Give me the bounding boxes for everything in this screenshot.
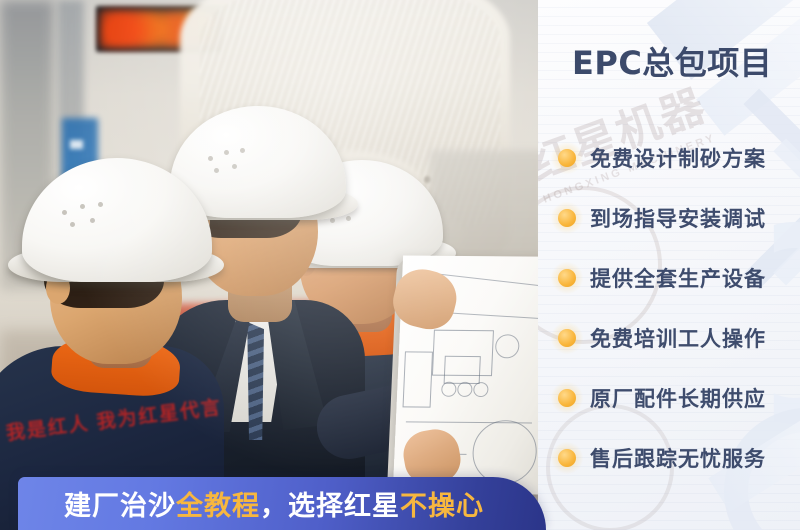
feature-list: 免费设计制砂方案 到场指导安装调试 提供全套生产设备 免费培训工人操作 原厂配件…	[556, 128, 800, 488]
dot-bullet-icon	[556, 387, 578, 409]
feature-item: 到场指导安装调试	[556, 188, 800, 248]
helmet-vent	[330, 218, 335, 223]
bottom-slogan-banner: 建厂治沙全教程，选择红星不操心	[18, 477, 546, 530]
blueprint-machine-part	[444, 356, 481, 384]
helmet-vent	[62, 210, 67, 215]
helmet-vent	[208, 156, 213, 161]
helmet-vent	[70, 222, 75, 227]
promo-banner-image: 我是红人 我为红星代言	[0, 0, 800, 530]
helmet-vent	[90, 218, 95, 223]
banner-slogan: 建厂治沙全教程，选择红星不操心	[64, 484, 484, 523]
helmet-vent	[224, 150, 229, 155]
dot-bullet-icon	[556, 147, 578, 169]
feature-label: 原厂配件长期供应	[590, 383, 766, 413]
features-panel: 红星机器 HONGXING MACHINERY EPC总包项目 免费设计制砂方案…	[538, 0, 800, 530]
helmet-vent	[240, 148, 245, 153]
feature-label: 售后跟踪无忧服务	[590, 443, 766, 473]
banner-part-highlight: 全教程	[176, 491, 260, 522]
panel-title: EPC总包项目	[572, 38, 800, 84]
dot-bullet-icon	[556, 267, 578, 289]
dot-bullet-icon	[556, 327, 578, 349]
blueprint-stamp	[471, 420, 538, 484]
dot-bullet-icon	[556, 447, 578, 469]
blueprint-wheel	[473, 382, 489, 397]
feature-item: 免费设计制砂方案	[556, 128, 800, 188]
banner-part-highlight: 不操心	[400, 491, 484, 522]
helmet-vent	[346, 216, 351, 221]
blueprint-wheel	[441, 382, 457, 397]
feature-item: 提供全套生产设备	[556, 248, 800, 308]
feature-label: 提供全套生产设备	[590, 263, 766, 293]
helmet-vent	[98, 202, 103, 207]
feature-item: 原厂配件长期供应	[556, 368, 800, 428]
feature-item: 免费培训工人操作	[556, 308, 800, 368]
feature-label: 免费设计制砂方案	[590, 143, 766, 173]
helmet-vent	[214, 168, 219, 173]
feature-item: 售后跟踪无忧服务	[556, 428, 800, 488]
helmet-vent	[80, 204, 85, 209]
dot-bullet-icon	[556, 207, 578, 229]
factory-photo: 我是红人 我为红星代言	[0, 0, 540, 530]
blueprint-side-unit	[403, 351, 433, 407]
helmet-vent	[232, 164, 237, 169]
blueprint-wheel	[495, 334, 520, 358]
feature-label: 免费培训工人操作	[590, 323, 766, 353]
banner-part: 建厂治沙	[64, 491, 176, 522]
banner-part: ，选择红星	[260, 491, 400, 522]
feature-label: 到场指导安装调试	[590, 203, 766, 233]
blueprint-wheel	[457, 382, 473, 397]
sign-mark	[70, 140, 83, 149]
